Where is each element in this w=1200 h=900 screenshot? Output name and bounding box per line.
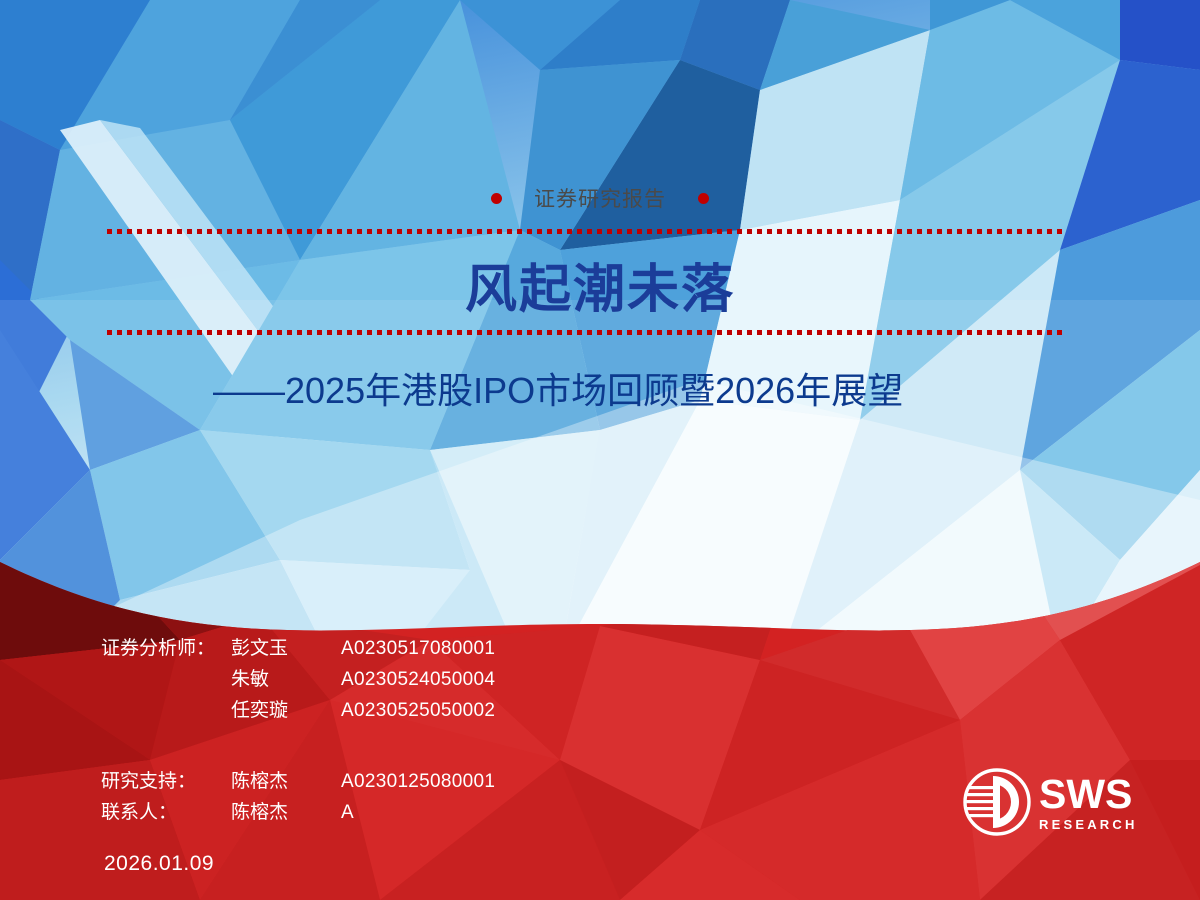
- dotted-rule-top: [107, 229, 1063, 234]
- page-subtitle: ——2025年港股IPO市场回顾暨2026年展望: [213, 362, 903, 414]
- research-support-label: 研究支持：: [101, 766, 231, 793]
- analyst-row: 任奕璇 A0230525050002: [101, 695, 495, 726]
- analyst-row: 证券分析师： 彭文玉 A0230517080001: [101, 633, 495, 664]
- kicker-row: 证券研究报告: [0, 182, 1200, 214]
- analyst-license-code: A0230524050004: [341, 669, 495, 691]
- contact-name: 陈榕杰: [231, 797, 341, 824]
- analyst-name: 彭文玉: [231, 633, 341, 660]
- credits-block: 证券分析师： 彭文玉 A0230517080001 朱敏 A0230524050…: [101, 633, 495, 828]
- kicker-dot-right: [698, 193, 709, 204]
- support-contact-group: 研究支持： 陈榕杰 A0230125080001 联系人： 陈榕杰 A: [101, 766, 495, 828]
- research-support-code: A0230125080001: [341, 771, 495, 793]
- report-kicker: 证券研究报告: [534, 183, 666, 213]
- research-support-name: 陈榕杰: [231, 766, 341, 793]
- analyst-license-code: A0230525050002: [341, 700, 495, 722]
- publish-date: 2026.01.09: [104, 852, 214, 876]
- dotted-rule-bottom: [107, 330, 1063, 335]
- report-cover-slide: 证券研究报告 风起潮未落 ——2025年港股IPO市场回顾暨2026年展望: [0, 0, 1200, 900]
- analyst-name: 任奕璇: [231, 695, 341, 722]
- analyst-name: 朱敏: [231, 664, 341, 691]
- logo-wordmark: SWS RESEARCH: [1039, 774, 1138, 831]
- logo-tagline: RESEARCH: [1039, 818, 1138, 831]
- contact-row: 联系人： 陈榕杰 A: [101, 797, 495, 828]
- kicker-dot-left: [491, 193, 502, 204]
- contact-code: A: [341, 802, 354, 824]
- page-title: 风起潮未落: [0, 258, 1200, 322]
- analyst-group: 证券分析师： 彭文玉 A0230517080001 朱敏 A0230524050…: [101, 633, 495, 726]
- analyst-label: 证券分析师：: [101, 633, 231, 660]
- sws-research-logo: SWS RESEARCH: [963, 768, 1153, 836]
- credits-spacer: [101, 726, 495, 766]
- analyst-license-code: A0230517080001: [341, 638, 495, 660]
- contact-label: 联系人：: [101, 797, 231, 824]
- sws-circle-mark-icon: [963, 768, 1031, 836]
- logo-brand-name: SWS: [1039, 774, 1132, 815]
- research-support-row: 研究支持： 陈榕杰 A0230125080001: [101, 766, 495, 797]
- analyst-row: 朱敏 A0230524050004: [101, 664, 495, 695]
